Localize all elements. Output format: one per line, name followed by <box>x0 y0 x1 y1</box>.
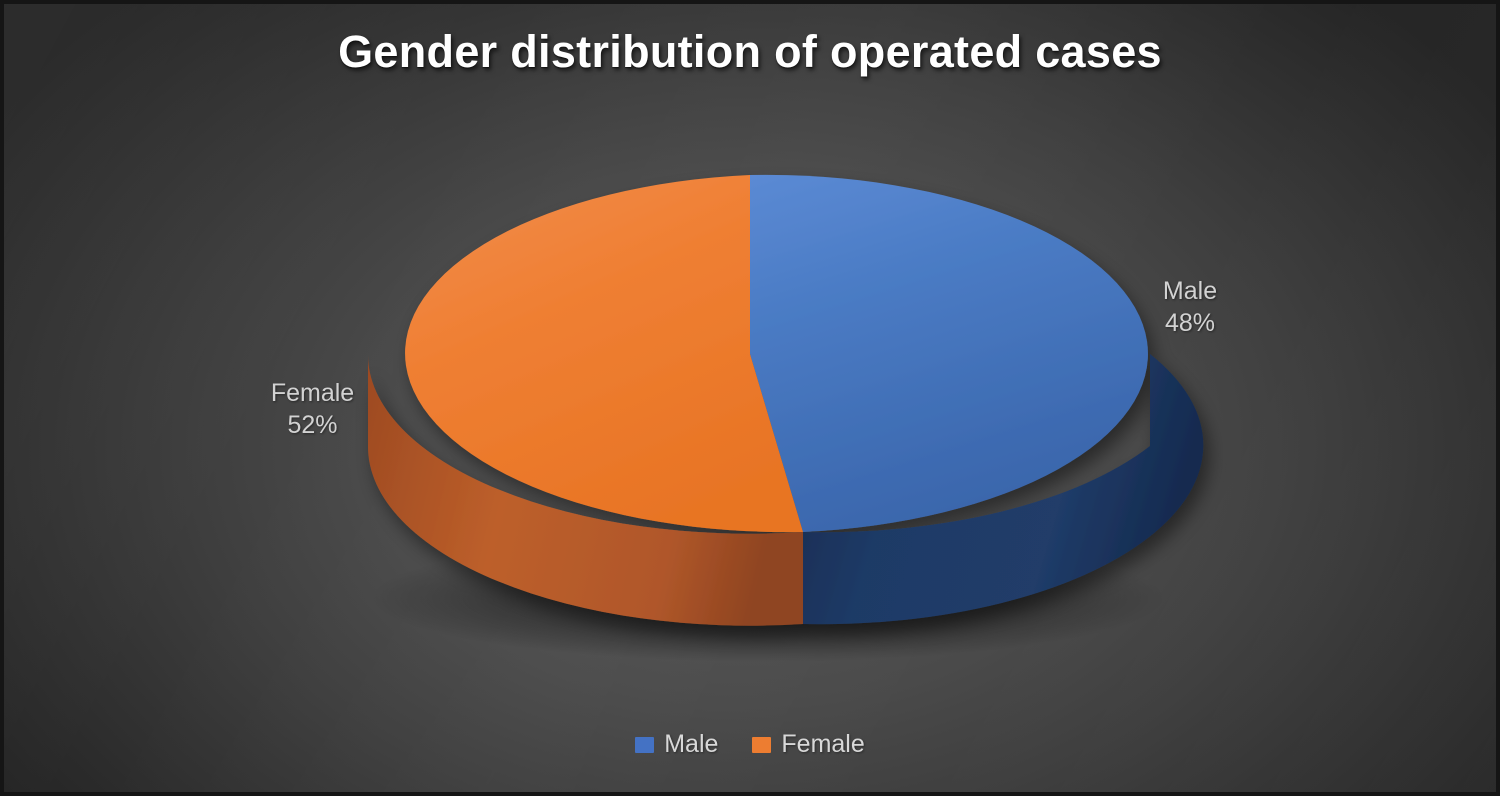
legend-label-female: Female <box>781 730 864 759</box>
data-label-female-percent: 52% <box>240 410 385 442</box>
pie-slice-top-male <box>750 175 1148 532</box>
slide-canvas: Gender distribution of operated cases <box>0 0 1500 796</box>
legend-item-male[interactable]: Male <box>635 730 718 759</box>
data-label-female: Female 52% <box>240 378 385 441</box>
legend-label-male: Male <box>664 730 718 759</box>
legend-swatch-male-icon <box>635 737 654 753</box>
page-title: Gender distribution of operated cases <box>0 26 1500 78</box>
data-label-female-name: Female <box>271 379 354 407</box>
pie-chart-svg <box>0 0 1500 796</box>
data-label-male-name: Male <box>1163 277 1217 305</box>
data-label-male: Male 48% <box>1130 276 1250 339</box>
chart-legend: Male Female <box>0 730 1500 759</box>
data-label-male-percent: 48% <box>1130 308 1250 340</box>
legend-swatch-female-icon <box>752 737 771 753</box>
legend-item-female[interactable]: Female <box>752 730 864 759</box>
pie-chart-graphic <box>0 0 1500 796</box>
